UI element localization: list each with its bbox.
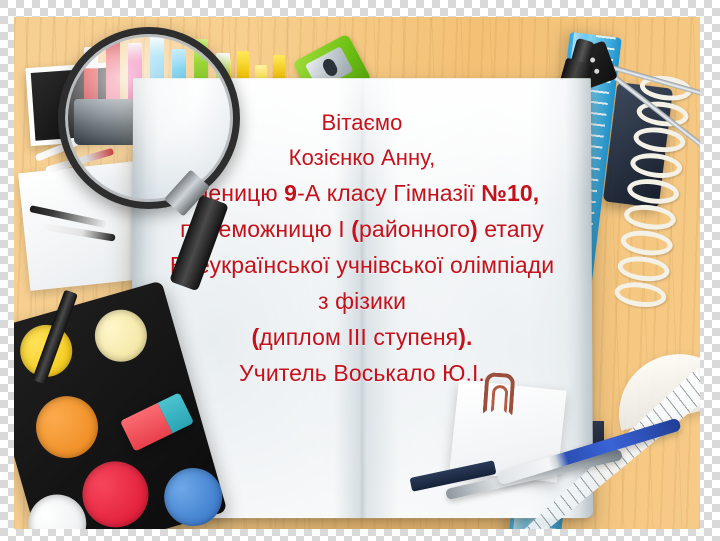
text-segment: -А класу Гімназії	[297, 180, 481, 206]
text-segment-bold: №10,	[481, 180, 539, 206]
paperclip-icon	[483, 372, 516, 416]
poster-line-8: Учитель Воськало Ю.І.	[132, 362, 592, 385]
poster-canvas: Вітаємо Козієнко Анну, ученицю 9-А класу…	[0, 0, 720, 541]
text-segment: диплом ІІІ ступеня	[259, 324, 458, 350]
paint-well-red	[75, 454, 157, 529]
text-segment-bold: )	[470, 216, 478, 242]
poster-line-7: (диплом ІІІ ступеня).	[132, 326, 592, 349]
paint-well-orange	[29, 389, 106, 466]
paint-well-cream	[89, 304, 153, 368]
text-segment-bold: (	[351, 216, 359, 242]
text-segment: районного	[359, 216, 470, 242]
poster-line-6: з фізики	[132, 290, 592, 313]
text-segment: етапу	[478, 216, 544, 242]
poster-image: Вітаємо Козієнко Анну, ученицю 9-А класу…	[14, 17, 700, 529]
text-segment-bold: 9	[284, 180, 297, 206]
magnifier-icon	[58, 27, 248, 277]
magnifier-lens	[58, 27, 240, 209]
text-segment-bold: ).	[458, 324, 472, 350]
